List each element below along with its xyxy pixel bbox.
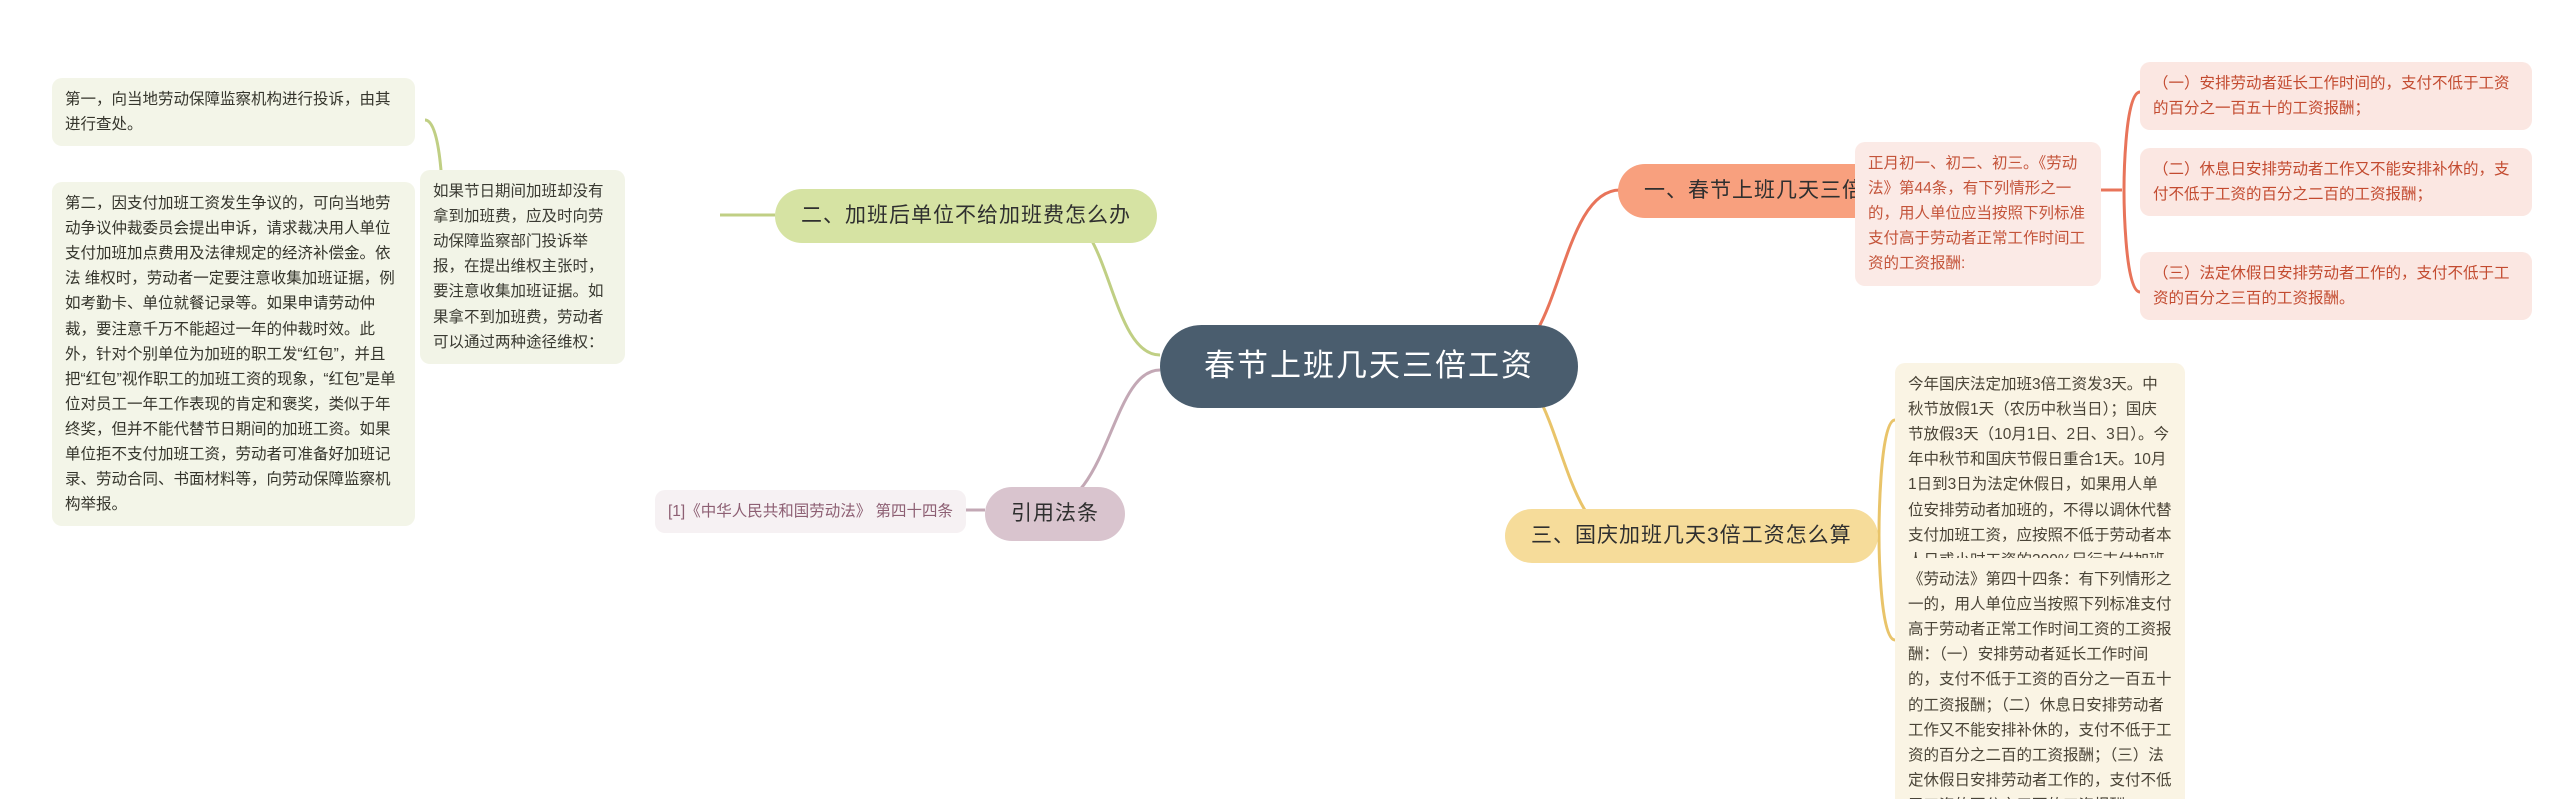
branch-1-item-2: （二）休息日安排劳动者工作又不能安排补休的，支付不低于工资的百分之二百的工资报酬… <box>2140 148 2532 216</box>
branch-2-item-1: 第一，向当地劳动保障监察机构进行投诉，由其进行查处。 <box>52 78 415 146</box>
branch-1-item-3: （三）法定休假日安排劳动者工作的，支付不低于工资的百分之三百的工资报酬。 <box>2140 252 2532 320</box>
branch-node-2[interactable]: 二、加班后单位不给加班费怎么办 <box>775 189 1157 243</box>
branch-4-item-1: [1]《中华人民共和国劳动法》 第四十四条 <box>655 490 966 533</box>
branch-node-4[interactable]: 引用法条 <box>985 487 1125 541</box>
branch-1-detail: 正月初一、初二、初三。《劳动法》第44条，有下列情形之一的，用人单位应当按照下列… <box>1855 142 2101 286</box>
branch-2-detail: 如果节日期间加班却没有拿到加班费，应及时向劳动保障监察部门投诉举报，在提出维权主… <box>420 170 625 364</box>
branch-3-item-2: 《劳动法》第四十四条：有下列情形之一的，用人单位应当按照下列标准支付高于劳动者正… <box>1895 558 2185 799</box>
mindmap-canvas: 春节上班几天三倍工资 一、春节上班几天三倍工资 正月初一、初二、初三。《劳动法》… <box>0 0 2560 799</box>
branch-node-3[interactable]: 三、国庆加班几天3倍工资怎么算 <box>1505 509 1878 563</box>
branch-1-item-1: （一）安排劳动者延长工作时间的，支付不低于工资的百分之一百五十的工资报酬； <box>2140 62 2532 130</box>
branch-2-item-2: 第二，因支付加班工资发生争议的，可向当地劳动争议仲裁委员会提出申诉，请求裁决用人… <box>52 182 415 526</box>
root-node[interactable]: 春节上班几天三倍工资 <box>1160 325 1578 408</box>
